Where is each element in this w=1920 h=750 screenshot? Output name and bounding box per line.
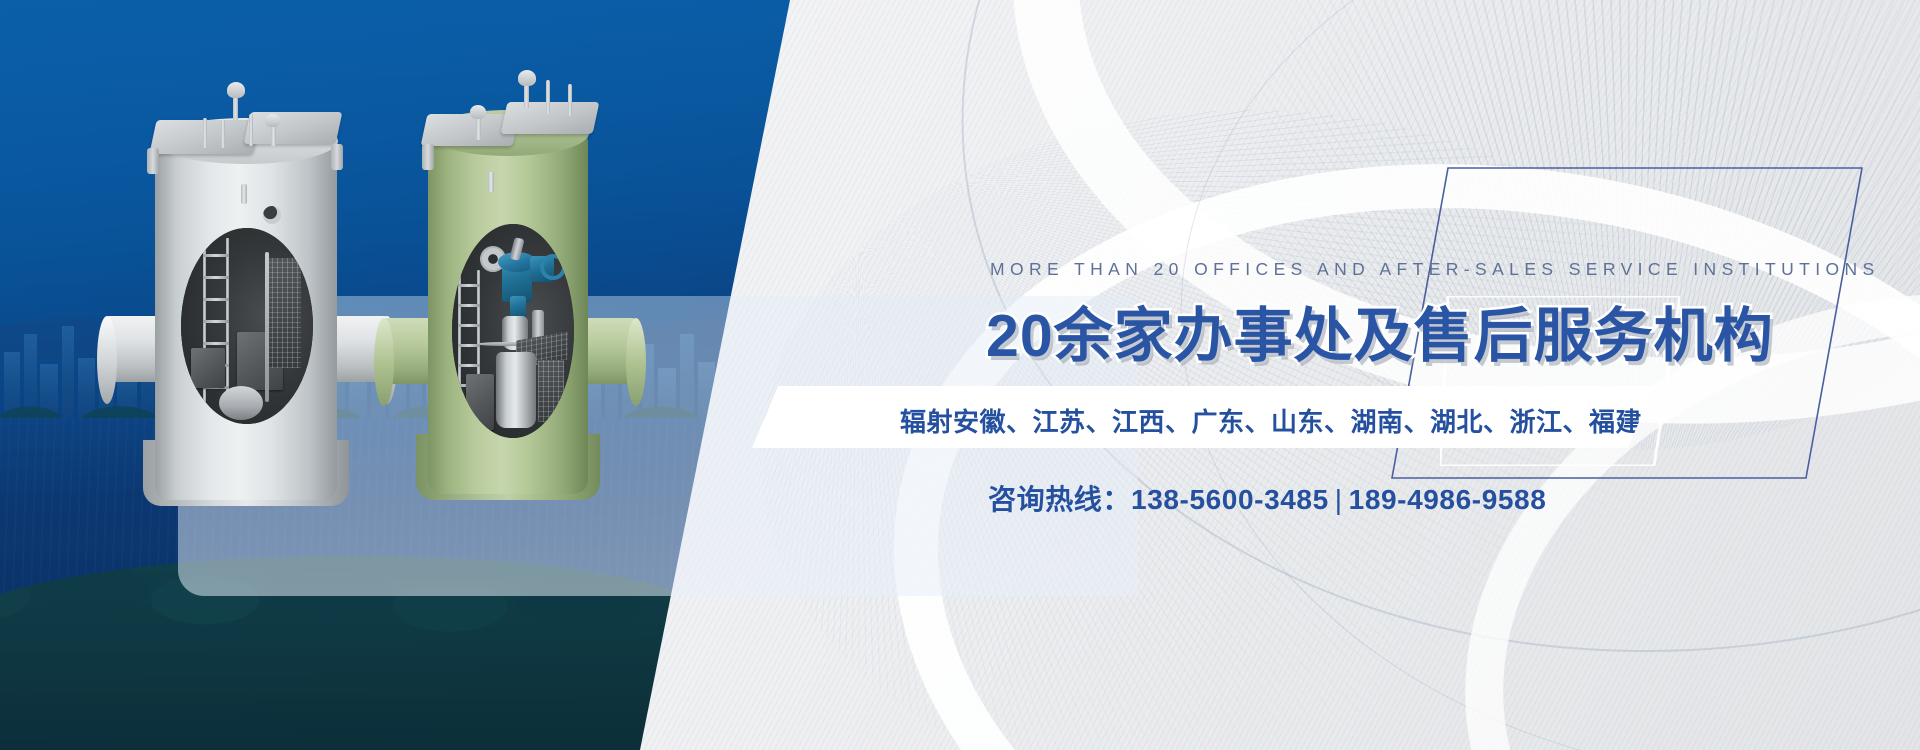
gray-access-lid-right	[244, 112, 343, 144]
hotline-secondary-number[interactable]: 189-4986-9588	[1349, 484, 1547, 515]
hotline-primary-number[interactable]: 138-5600-3485	[1131, 484, 1329, 515]
green-cutaway-window	[452, 224, 574, 438]
gray-interior-plate-2	[191, 348, 225, 388]
gray-cutaway-window	[181, 228, 313, 424]
green-body-fitting	[488, 172, 494, 192]
green-lifting-lug-left	[422, 144, 434, 170]
green-vent-cap	[518, 70, 536, 86]
gray-lifting-lug-right	[331, 144, 343, 170]
green-valve-neck	[510, 296, 526, 318]
page-title: 20余家办事处及售后服务机构	[986, 288, 1774, 373]
gray-side-port	[263, 206, 281, 224]
product-group	[0, 0, 880, 750]
gray-left-pipe-flange	[97, 316, 117, 404]
subtitle-bar: 辐射安徽、江苏、江西、广东、山东、湖南、湖北、浙江、福建等多个省份	[752, 386, 1654, 448]
green-pin-1	[546, 80, 550, 114]
gray-vent-cap-2	[265, 114, 280, 127]
gray-pin-3	[249, 114, 253, 146]
gray-interior-rail	[265, 252, 269, 402]
gray-pin-1	[203, 118, 207, 148]
green-vent-stem-2	[476, 116, 481, 140]
green-left-pipe-flange	[374, 318, 394, 406]
gray-pump-station	[155, 140, 337, 500]
gray-interior-basin	[219, 386, 263, 420]
promo-banner: MORE THAN 20 OFFICES AND AFTER-SALES SER…	[0, 0, 1920, 750]
gray-vent-stem-2	[271, 124, 276, 146]
hotline-separator: |	[1329, 484, 1349, 515]
gray-lifting-lug-left	[147, 148, 159, 174]
green-vent-cap-2	[470, 105, 486, 119]
gray-vent-cap	[227, 82, 245, 98]
gray-pin-2	[221, 120, 225, 148]
green-screen-grate	[538, 360, 564, 422]
green-handwheel	[540, 254, 566, 280]
green-interior-plate	[466, 374, 494, 430]
green-wet-well-tank	[496, 352, 536, 428]
gray-interior-grate	[267, 258, 301, 368]
eyebrow-tagline: MORE THAN 20 OFFICES AND AFTER-SALES SER…	[990, 259, 1880, 280]
hotline-label: 咨询热线：	[988, 484, 1131, 515]
green-right-pipe-flange	[626, 318, 646, 406]
green-access-lid-right	[501, 102, 600, 134]
hotline-row: 咨询热线：138-5600-3485|189-4986-9588	[988, 478, 1546, 518]
gray-body-fitting	[241, 184, 247, 204]
green-pin-2	[568, 84, 572, 116]
green-pump-station	[428, 132, 588, 494]
